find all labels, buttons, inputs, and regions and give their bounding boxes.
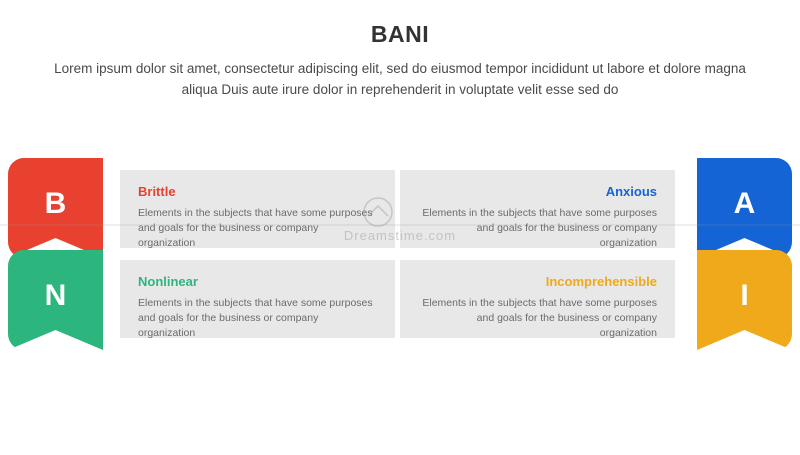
badge-letter-i: I	[740, 281, 748, 311]
badge-letter-a: A	[734, 189, 756, 219]
badge-nonlinear[interactable]: N	[8, 250, 103, 350]
badge-incomprehensible[interactable]: I	[697, 250, 792, 350]
panel-description-anxious: Elements in the subjects that have some …	[418, 206, 657, 251]
panel-description-nonlinear: Elements in the subjects that have some …	[138, 296, 377, 341]
panel-description-brittle: Elements in the subjects that have some …	[138, 206, 377, 251]
panel-heading-anxious: Anxious	[418, 184, 657, 200]
panel-nonlinear[interactable]: Nonlinear Elements in the subjects that …	[120, 260, 395, 338]
badge-letter-n: N	[45, 281, 67, 311]
bani-diagram: B N A I Brittle Elements in the subjects…	[0, 130, 800, 380]
badge-letter-b: B	[45, 189, 67, 219]
page-subtitle: Lorem ipsum dolor sit amet, consectetur …	[50, 58, 750, 100]
panel-description-incomprehensible: Elements in the subjects that have some …	[418, 296, 657, 341]
panel-anxious[interactable]: Anxious Elements in the subjects that ha…	[400, 170, 675, 248]
page-title: BANI	[0, 20, 800, 48]
panel-incomprehensible[interactable]: Incomprehensible Elements in the subject…	[400, 260, 675, 338]
panel-heading-brittle: Brittle	[138, 184, 377, 200]
header: BANI Lorem ipsum dolor sit amet, consect…	[0, 0, 800, 100]
badge-anxious[interactable]: A	[697, 158, 792, 258]
panel-heading-nonlinear: Nonlinear	[138, 274, 377, 290]
badge-brittle[interactable]: B	[8, 158, 103, 258]
panel-brittle[interactable]: Brittle Elements in the subjects that ha…	[120, 170, 395, 248]
panel-heading-incomprehensible: Incomprehensible	[418, 274, 657, 290]
